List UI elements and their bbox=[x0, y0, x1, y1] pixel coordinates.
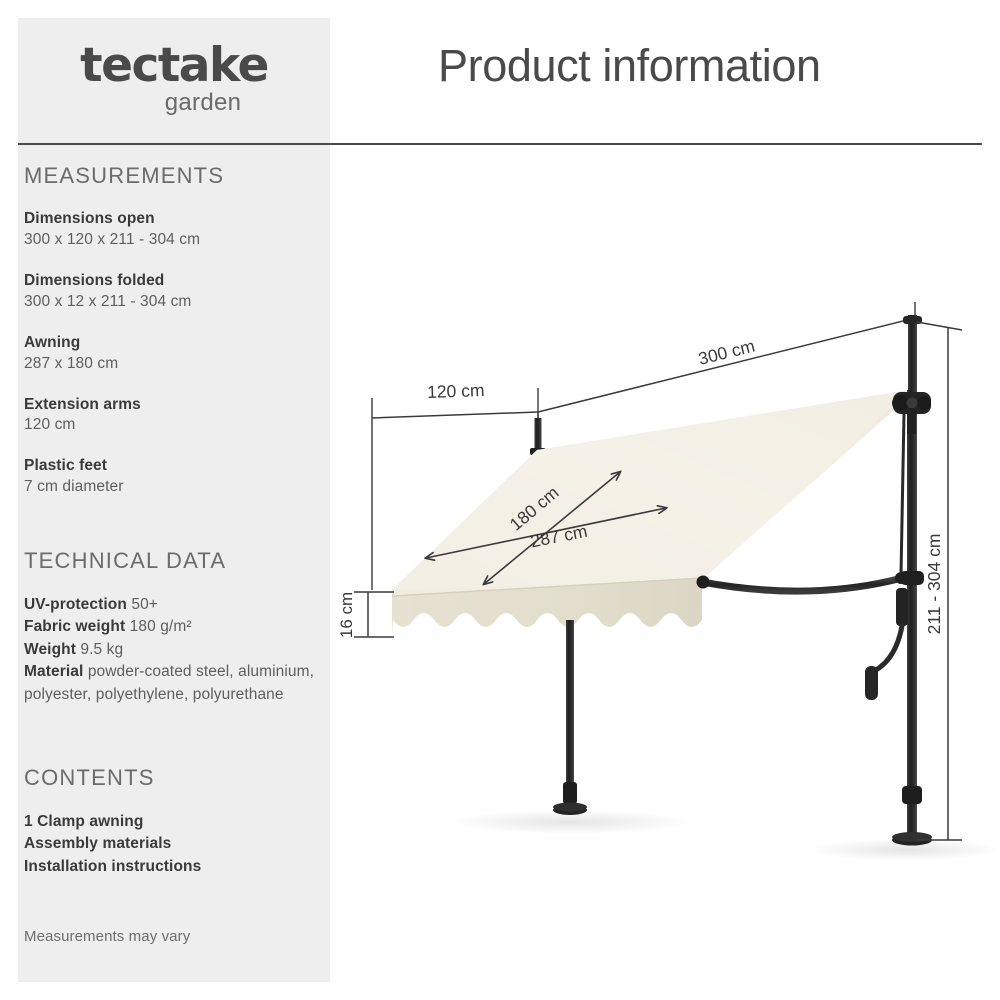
tech-label: Weight bbox=[24, 641, 76, 658]
measurements-disclaimer: Measurements may vary bbox=[24, 928, 324, 945]
tech-value: 9.5 kg bbox=[80, 641, 123, 658]
crank-handle bbox=[865, 588, 908, 700]
section-technical-data: TECHNICAL DATA UV-protection 50+ Fabric … bbox=[24, 548, 324, 706]
tech-value: 180 g/m² bbox=[130, 618, 192, 635]
tech-material: Material powder-coated steel, aluminium,… bbox=[24, 661, 324, 706]
label-arm-length: 120 cm bbox=[427, 380, 485, 402]
awning-canopy bbox=[392, 390, 910, 608]
section-contents: CONTENTS 1 Clamp awning Assembly materia… bbox=[24, 765, 324, 878]
spec-awning: Awning 287 x 180 cm bbox=[24, 333, 324, 375]
product-information-sheet: tectake garden Product information MEASU… bbox=[0, 0, 1000, 1000]
tech-value: 50+ bbox=[131, 596, 158, 613]
header-divider bbox=[18, 143, 982, 145]
spec-value: 300 x 120 x 211 - 304 cm bbox=[24, 230, 324, 251]
label-pole-height: 211 - 304 cm bbox=[924, 534, 944, 635]
tech-weight: Weight 9.5 kg bbox=[24, 639, 324, 661]
section-heading-measurements: MEASUREMENTS bbox=[24, 163, 324, 189]
section-heading-technical: TECHNICAL DATA bbox=[24, 548, 324, 574]
logo: tectake garden bbox=[18, 42, 330, 115]
dimension-valance-height: 16 cm bbox=[337, 592, 394, 638]
contents-item: 1 Clamp awning bbox=[24, 811, 324, 833]
spec-dimensions-folded: Dimensions folded 300 x 12 x 211 - 304 c… bbox=[24, 271, 324, 313]
spec-value: 287 x 180 cm bbox=[24, 354, 324, 375]
label-valance-height: 16 cm bbox=[337, 592, 356, 638]
mounting-bracket bbox=[892, 392, 931, 434]
tech-fabric-weight: Fabric weight 180 g/m² bbox=[24, 616, 324, 638]
spec-label: Awning bbox=[24, 333, 324, 354]
support-pole-front-left bbox=[553, 620, 587, 815]
logo-wordmark: tectake bbox=[18, 42, 330, 89]
page-title: Product information bbox=[438, 40, 821, 92]
spec-dimensions-open: Dimensions open 300 x 120 x 211 - 304 cm bbox=[24, 209, 324, 251]
spec-value: 300 x 12 x 211 - 304 cm bbox=[24, 292, 324, 313]
spec-label: Plastic feet bbox=[24, 456, 324, 477]
tech-label: Fabric weight bbox=[24, 618, 125, 635]
brand-logo-block: tectake garden bbox=[18, 18, 330, 143]
label-width-total: 300 cm bbox=[696, 336, 757, 369]
logo-subline: garden bbox=[76, 91, 330, 115]
contents-item: Assembly materials bbox=[24, 833, 324, 855]
support-pole-right-main bbox=[865, 390, 932, 846]
tech-label: Material bbox=[24, 663, 83, 680]
tech-label: UV-protection bbox=[24, 596, 127, 613]
tech-uv-protection: UV-protection 50+ bbox=[24, 594, 324, 616]
contents-item: Installation instructions bbox=[24, 856, 324, 878]
spec-label: Dimensions open bbox=[24, 209, 324, 230]
spec-plastic-feet: Plastic feet 7 cm diameter bbox=[24, 456, 324, 498]
section-measurements: MEASUREMENTS Dimensions open 300 x 120 x… bbox=[24, 163, 324, 518]
extension-arm bbox=[697, 572, 908, 591]
section-heading-contents: CONTENTS bbox=[24, 765, 324, 791]
spec-label: Dimensions folded bbox=[24, 271, 324, 292]
disclaimer-text: Measurements may vary bbox=[24, 928, 324, 945]
product-diagram: 300 cm 120 cm bbox=[330, 150, 1000, 1000]
spec-value: 120 cm bbox=[24, 415, 324, 436]
spec-label: Extension arms bbox=[24, 395, 324, 416]
spec-value: 7 cm diameter bbox=[24, 477, 324, 498]
spec-extension-arms: Extension arms 120 cm bbox=[24, 395, 324, 437]
